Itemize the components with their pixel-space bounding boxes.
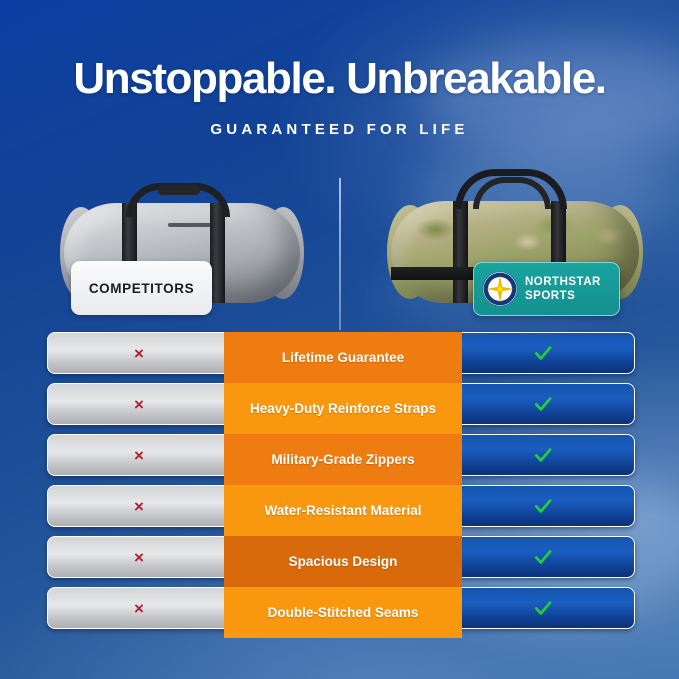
northstar-cell <box>451 332 635 374</box>
feature-band: Spacious Design <box>224 536 462 587</box>
competitor-cell: × <box>47 485 231 527</box>
feature-band: Heavy-Duty Reinforce Straps <box>224 383 462 434</box>
bag-zipper <box>168 223 214 227</box>
northstar-brand-badge: NORTHSTAR SPORTS <box>473 262 620 316</box>
check-icon <box>533 394 553 414</box>
feature-label: Military-Grade Zippers <box>224 434 462 485</box>
feature-label: Spacious Design <box>224 536 462 587</box>
competitor-cell: × <box>47 536 231 578</box>
competitor-cell: × <box>47 383 231 425</box>
feature-band: Water-Resistant Material <box>224 485 462 536</box>
feature-band: Military-Grade Zippers <box>224 434 462 485</box>
check-icon <box>533 343 553 363</box>
feature-label: Lifetime Guarantee <box>224 332 462 383</box>
feature-label: Water-Resistant Material <box>224 485 462 536</box>
check-icon <box>533 598 553 618</box>
check-icon <box>533 496 553 516</box>
compass-star-logo-icon <box>482 271 518 307</box>
northstar-cell <box>451 536 635 578</box>
competitors-badge: COMPETITORS <box>71 261 212 315</box>
competitors-label: COMPETITORS <box>89 281 194 296</box>
feature-label: Heavy-Duty Reinforce Straps <box>224 383 462 434</box>
cross-icon: × <box>134 396 144 413</box>
northstar-cell <box>451 383 635 425</box>
northstar-brand-label: NORTHSTAR SPORTS <box>525 275 601 303</box>
bag-handle-grip <box>158 185 200 195</box>
cross-icon: × <box>134 345 144 362</box>
page-title: Unstoppable. Unbreakable. <box>0 57 679 101</box>
cross-icon: × <box>134 600 144 617</box>
cross-icon: × <box>134 549 144 566</box>
check-icon <box>533 547 553 567</box>
brand-name-line1: NORTHSTAR <box>525 276 601 288</box>
check-icon <box>533 445 553 465</box>
competitor-cell: × <box>47 434 231 476</box>
cross-icon: × <box>134 447 144 464</box>
northstar-cell <box>451 485 635 527</box>
page-subtitle: GUARANTEED FOR LIFE <box>0 121 679 138</box>
header: Unstoppable. Unbreakable. GUARANTEED FOR… <box>0 0 679 138</box>
feature-label: Double-Stitched Seams <box>224 587 462 638</box>
northstar-cell <box>451 587 635 629</box>
feature-label-column: Lifetime GuaranteeHeavy-Duty Reinforce S… <box>224 332 462 638</box>
northstar-cell <box>451 434 635 476</box>
cross-icon: × <box>134 498 144 515</box>
brand-name-line2: SPORTS <box>525 290 575 302</box>
competitor-cell: × <box>47 332 231 374</box>
feature-band: Double-Stitched Seams <box>224 587 462 638</box>
competitor-cell: × <box>47 587 231 629</box>
bag-strap <box>210 203 225 303</box>
bag-strap <box>453 201 468 303</box>
feature-band: Lifetime Guarantee <box>224 332 462 383</box>
